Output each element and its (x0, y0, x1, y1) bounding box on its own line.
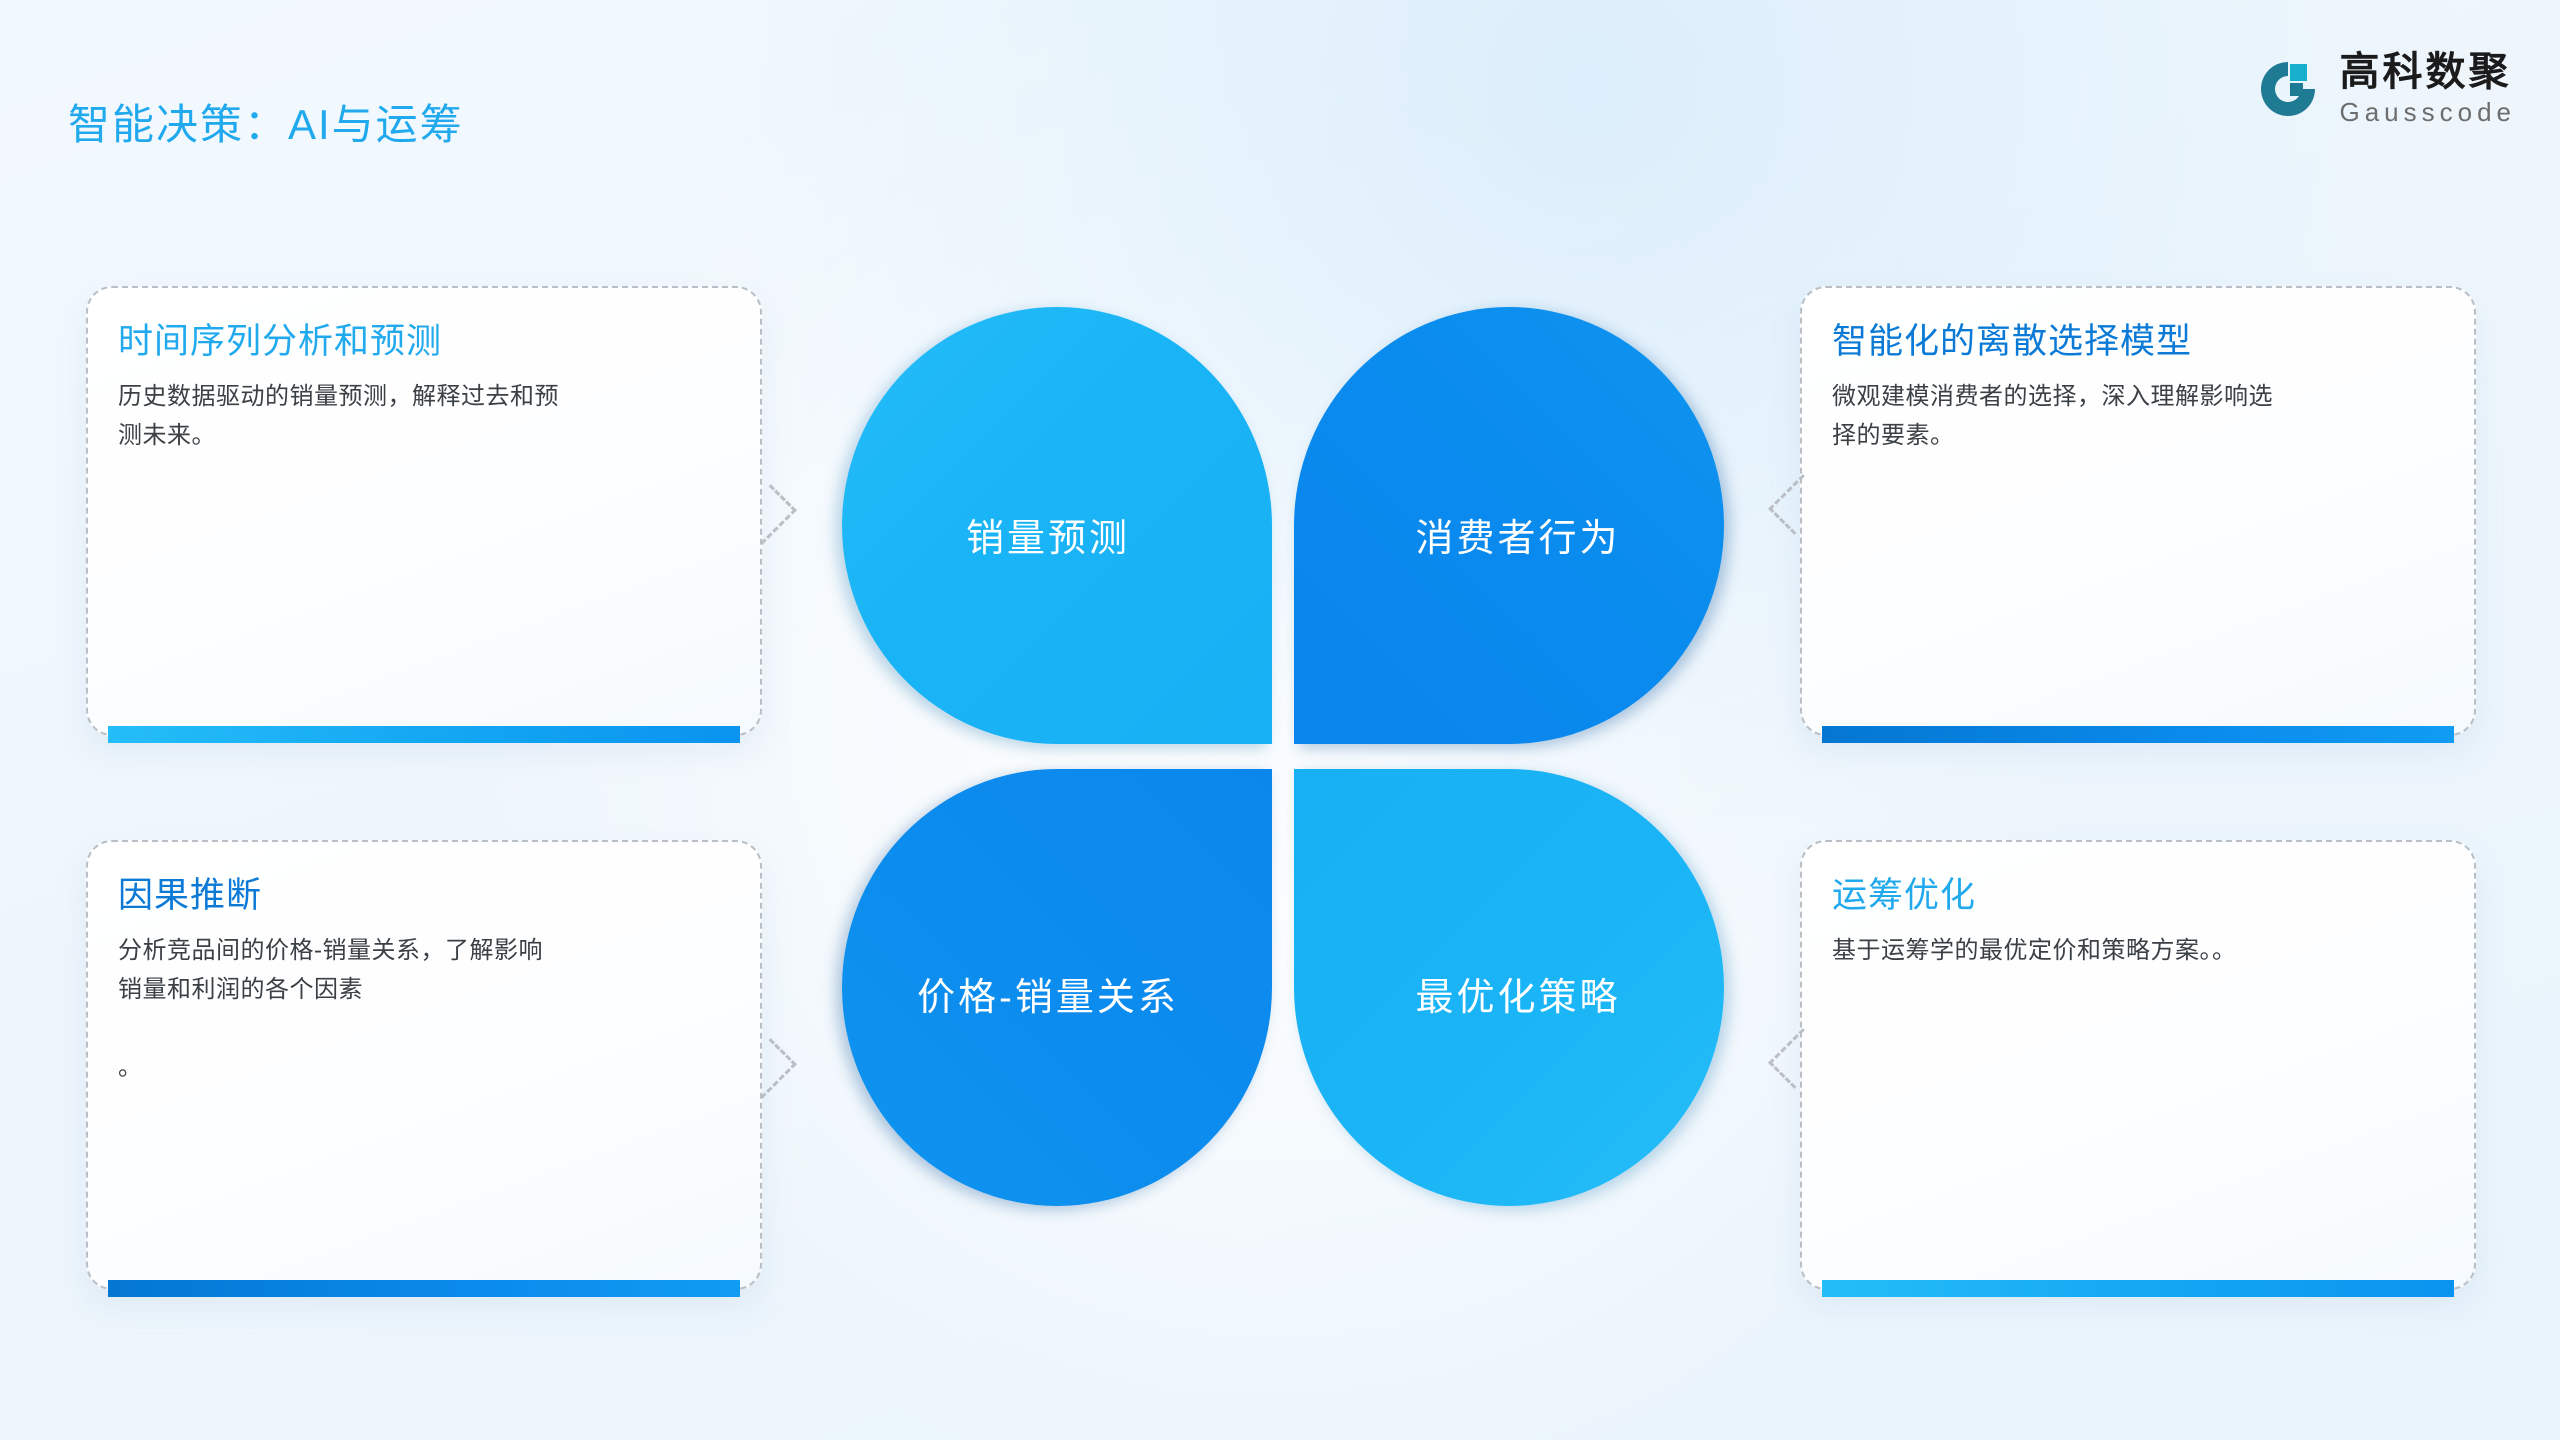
logo-chinese-name: 高科数聚 (2339, 52, 2516, 92)
card-description: 基于运筹学的最优定价和策略方案。。 (1832, 932, 2444, 971)
card-causal-inference[interactable]: 因果推断 分析竞品间的价格-销量关系，了解影响 销量和利润的各个因素 。 (86, 840, 762, 1290)
petal-label: 最优化策略 (1312, 966, 1724, 1021)
card-accent-bar (108, 726, 740, 743)
card-accent-bar (1822, 726, 2454, 743)
chevron-right-icon (748, 1044, 782, 1090)
flower-diagram: 销量预测 消费者行为 价格-销量关系 最优化策略 (842, 307, 1722, 1207)
page-title: 智能决策：AI与运筹 (68, 104, 464, 146)
slide-canvas: 智能决策：AI与运筹 高科数聚 Gausscode 销量预测 消费者行为 价格-… (0, 0, 2560, 1440)
logo-wordmark: 高科数聚 Gausscode (2339, 52, 2516, 125)
card-title: 时间序列分析和预测 (118, 322, 730, 362)
petal-sales-forecast[interactable]: 销量预测 (842, 307, 1272, 744)
petal-consumer-behavior[interactable]: 消费者行为 (1294, 307, 1724, 744)
card-operations-optimization[interactable]: 运筹优化 基于运筹学的最优定价和策略方案。。 (1800, 840, 2476, 1290)
petal-price-volume-relation[interactable]: 价格-销量关系 (842, 769, 1272, 1206)
card-time-series[interactable]: 时间序列分析和预测 历史数据驱动的销量预测，解释过去和预 测未来。 (86, 286, 762, 736)
petal-label: 消费者行为 (1312, 507, 1724, 562)
card-content: 运筹优化 基于运筹学的最优定价和策略方案。。 (1832, 876, 2444, 971)
card-content: 因果推断 分析竞品间的价格-销量关系，了解影响 销量和利润的各个因素 。 (118, 876, 730, 1088)
logo-english-name: Gausscode (2339, 99, 2516, 125)
card-description: 分析竞品间的价格-销量关系，了解影响 销量和利润的各个因素 。 (118, 932, 730, 1088)
card-discrete-choice[interactable]: 智能化的离散选择模型 微观建模消费者的选择，深入理解影响选 择的要素。 (1800, 286, 2476, 736)
petal-optimization-strategy[interactable]: 最优化策略 (1294, 769, 1724, 1206)
card-accent-bar (108, 1280, 740, 1297)
card-accent-bar (1822, 1280, 2454, 1297)
gausscode-g-mark-icon (2257, 58, 2319, 120)
card-description: 历史数据驱动的销量预测，解释过去和预 测未来。 (118, 378, 730, 456)
petal-label: 销量预测 (824, 507, 1272, 562)
chevron-left-icon (1780, 480, 1814, 526)
card-content: 时间序列分析和预测 历史数据驱动的销量预测，解释过去和预 测未来。 (118, 322, 730, 456)
chevron-left-icon (1780, 1034, 1814, 1080)
card-title: 智能化的离散选择模型 (1832, 322, 2444, 362)
card-title: 运筹优化 (1832, 876, 2444, 916)
chevron-right-icon (748, 490, 782, 536)
card-content: 智能化的离散选择模型 微观建模消费者的选择，深入理解影响选 择的要素。 (1832, 322, 2444, 456)
brand-logo: 高科数聚 Gausscode (2257, 52, 2516, 125)
card-description: 微观建模消费者的选择，深入理解影响选 择的要素。 (1832, 378, 2444, 456)
petal-label: 价格-销量关系 (824, 966, 1272, 1021)
card-title: 因果推断 (118, 876, 730, 916)
